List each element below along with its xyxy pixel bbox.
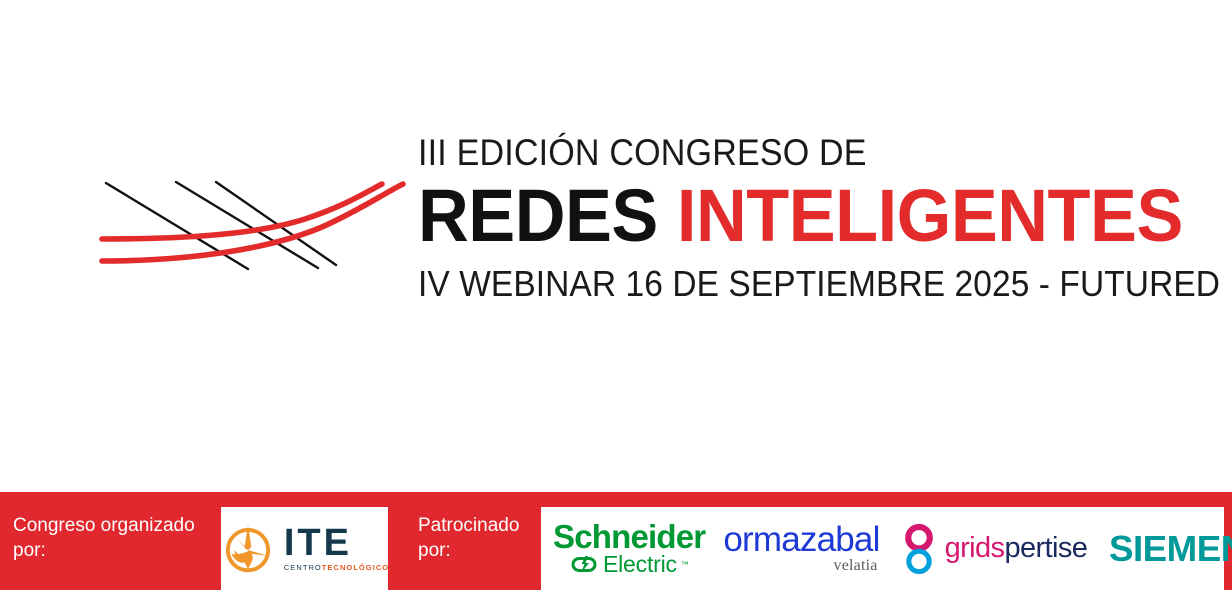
- page-title: REDES INTELIGENTES: [418, 179, 1169, 253]
- ite-wordmark-group: ITE CENTROTECNOLÓGICO: [284, 525, 389, 572]
- ormazabal-velatia-sub: velatia: [834, 558, 878, 574]
- page-subtitle: IV WEBINAR 16 DE SEPTIEMBRE 2025 - FUTUR…: [418, 265, 1153, 303]
- page-eyebrow: III EDICIÓN CONGRESO DE: [418, 134, 1145, 173]
- ite-tagline-centro: CENTRO: [284, 563, 322, 572]
- ite-wordmark: ITE: [284, 525, 352, 561]
- page-title-word-inteligentes: INTELIGENTES: [677, 174, 1183, 257]
- gridspertise-word-pertise: pertise: [1004, 532, 1087, 564]
- ite-tagline-tecnologico: TECNOLÓGICO: [322, 563, 389, 572]
- sponsor-logo-schneider-electric: Schneider Electric ™: [553, 521, 705, 576]
- sponsor-logo-siemens: SIEMENS: [1109, 531, 1232, 567]
- schneider-trademark: ™: [681, 560, 689, 569]
- schneider-lifeison-icon: [569, 554, 599, 575]
- page-title-word-redes: REDES: [418, 174, 658, 257]
- organizer-label: Congreso organizado por:: [13, 513, 213, 563]
- schneider-electric-row: Electric ™: [569, 553, 689, 576]
- ite-tagline: CENTROTECNOLÓGICO: [284, 564, 389, 572]
- ite-compass-bird-icon: [220, 521, 276, 577]
- gridspertise-word-grids: grids: [945, 532, 1005, 564]
- ite-logo: ITE CENTROTECNOLÓGICO: [220, 521, 389, 577]
- footer-bar: Congreso organizado por: ITE CENTROTECNO…: [0, 492, 1232, 590]
- gridspertise-infinity-icon: [902, 523, 936, 575]
- gridspertise-wordmark: gridspertise: [945, 534, 1088, 563]
- ormazabal-wordmark: ormazabal: [723, 523, 879, 556]
- sponsors-logo-plate: Schneider Electric ™ ormazabal velatia: [541, 507, 1224, 590]
- redes-inteligentes-lines-mark: [90, 165, 415, 280]
- schneider-wordmark: Schneider: [553, 521, 705, 552]
- organizer-logo-plate: ITE CENTROTECNOLÓGICO: [221, 507, 388, 590]
- sponsor-logo-gridspertise: gridspertise: [902, 523, 1088, 575]
- sponsor-label: Patrocinado por:: [418, 513, 538, 563]
- title-block: III EDICIÓN CONGRESO DE REDES INTELIGENT…: [418, 134, 1208, 303]
- sponsor-logo-ormazabal: ormazabal velatia: [723, 523, 879, 574]
- schneider-electric-word: Electric: [603, 553, 677, 576]
- hero-banner: III EDICIÓN CONGRESO DE REDES INTELIGENT…: [0, 0, 1232, 492]
